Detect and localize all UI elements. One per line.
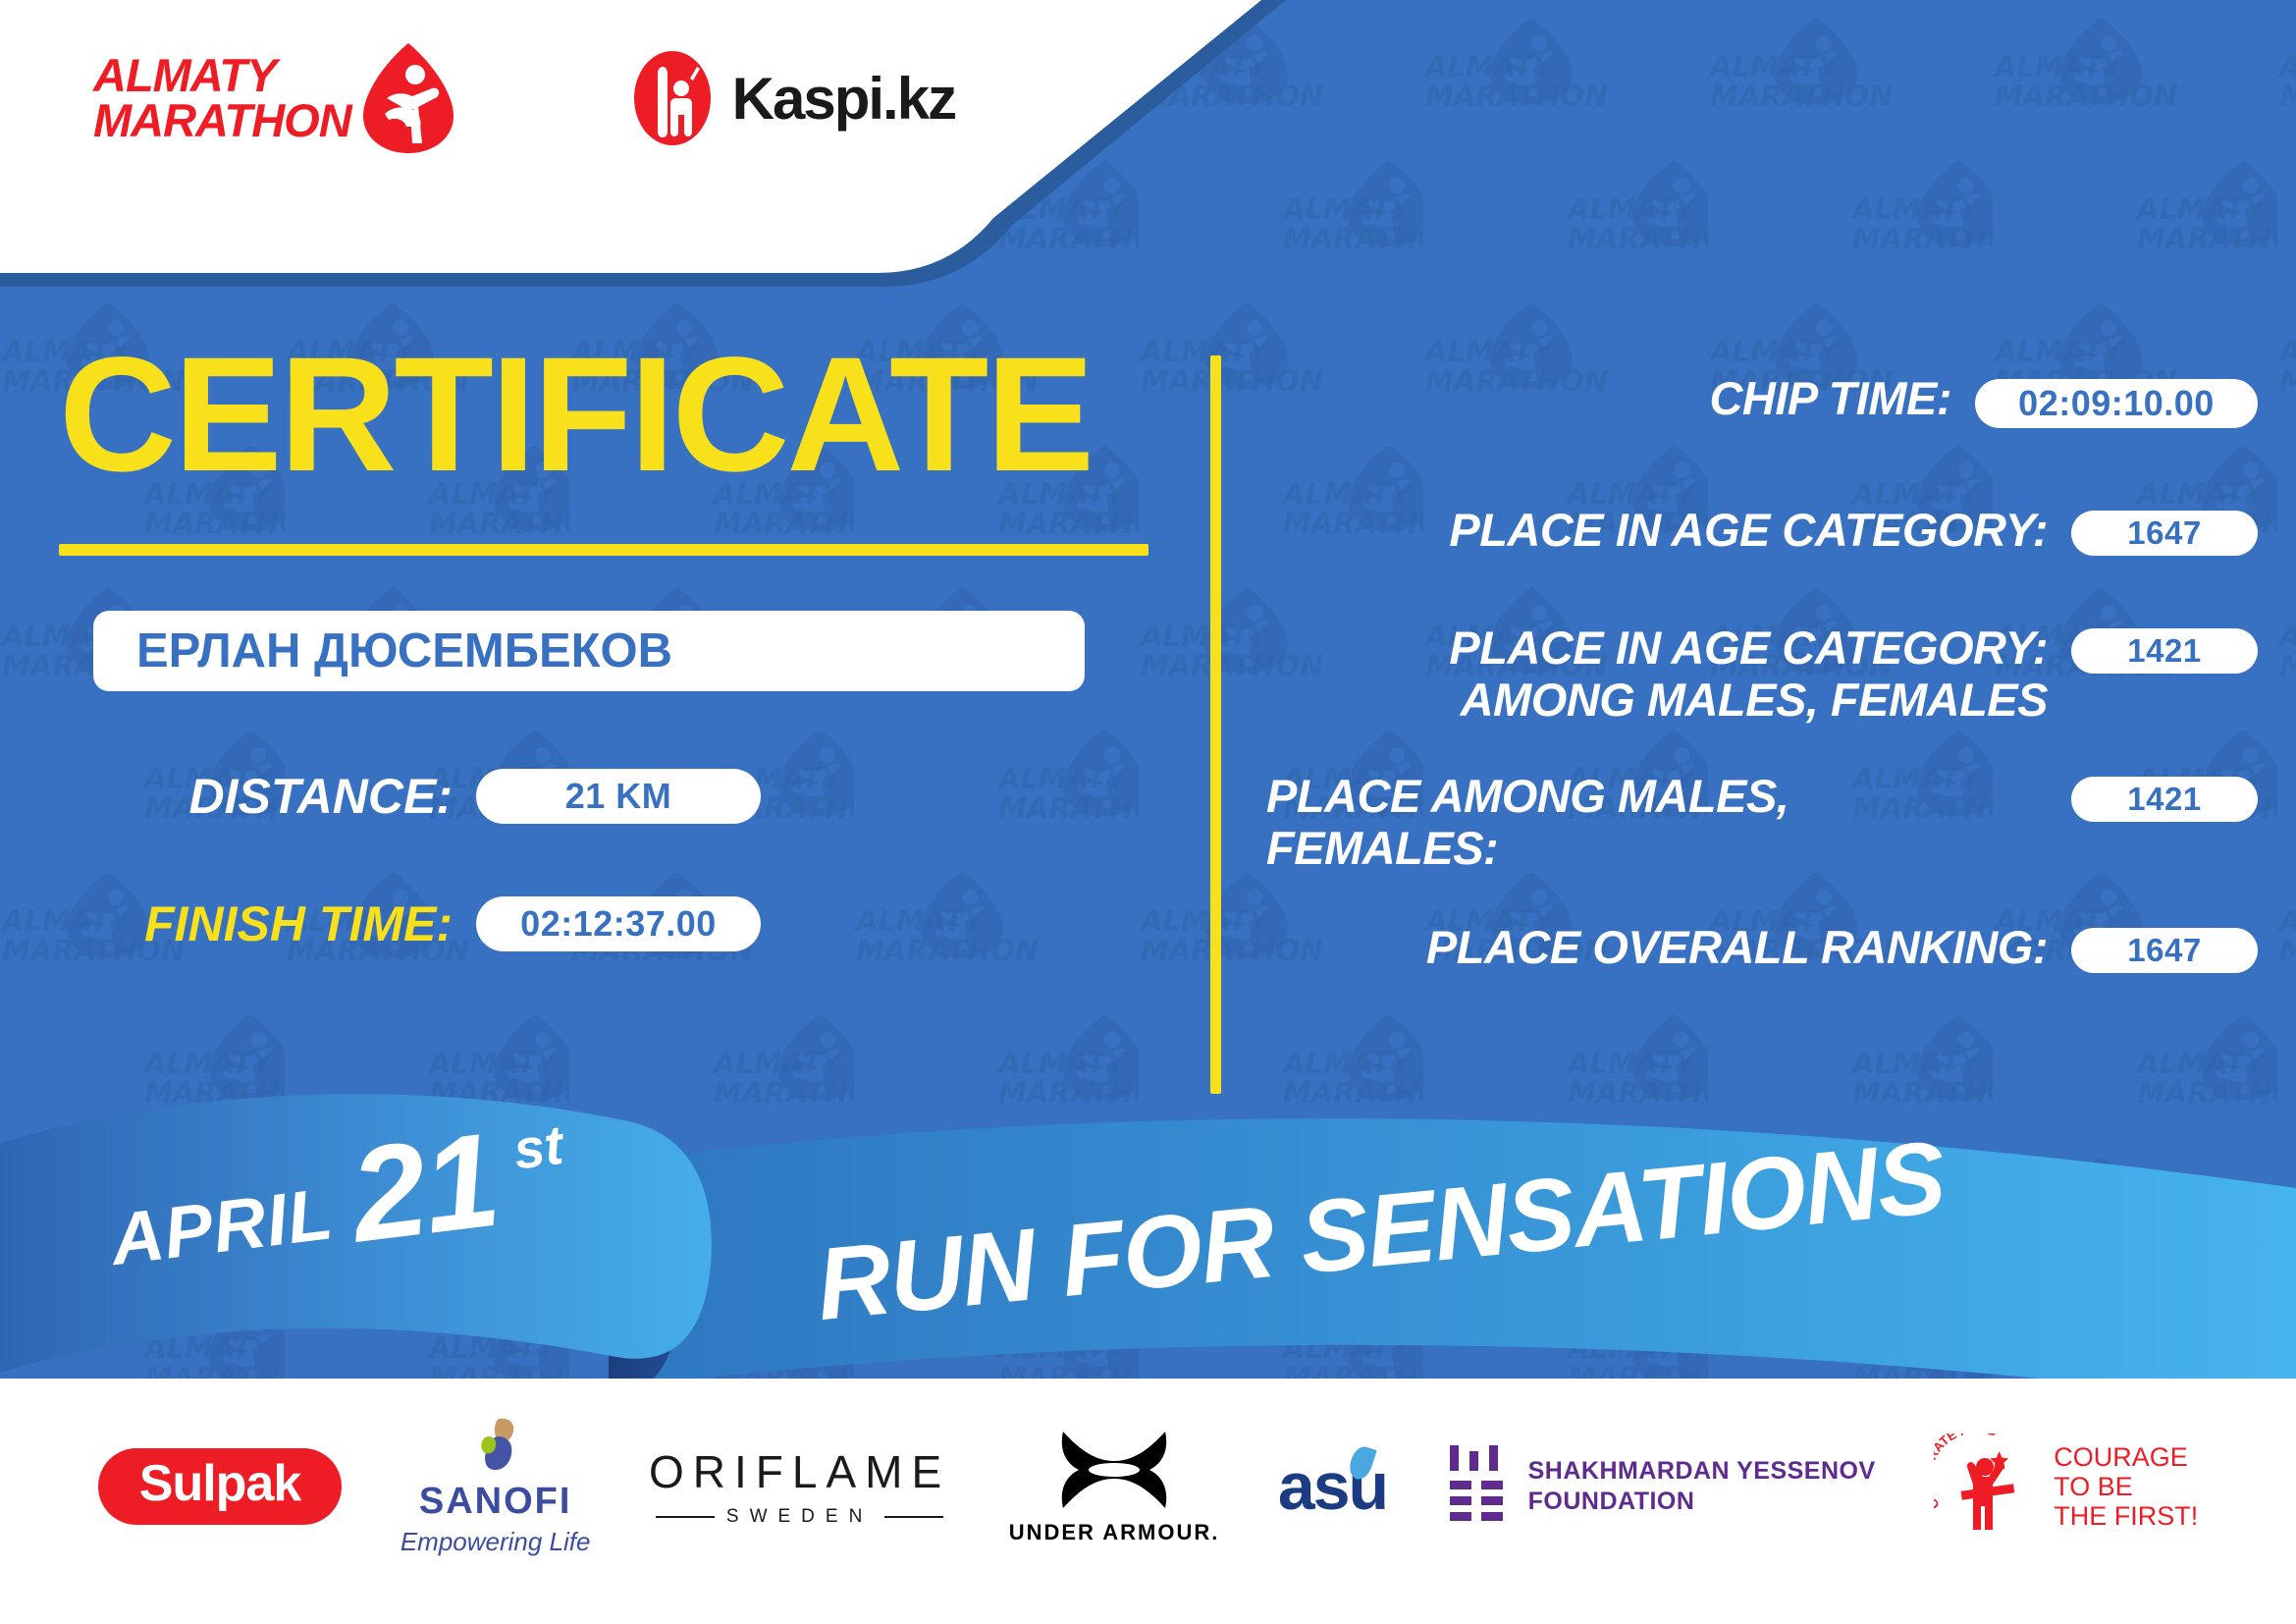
certificate-left-column: CERTIFICATE ЕРЛАН ДЮСЕМБЕКОВ DISTANCE: 2… [0, 334, 1178, 952]
sponsor-yessenov-foundation[interactable]: SHAKHMARDAN YESSENOV FOUNDATION [1446, 1443, 1876, 1531]
chip-time-label: CHIP TIME: [1266, 373, 1975, 425]
under-armour-icon [1009, 1428, 1220, 1512]
courage-line1: COURAGE [2054, 1442, 2198, 1472]
event-day-suffix: st [510, 1112, 566, 1182]
courage-line2: TO BE [2054, 1472, 2198, 1501]
certificate-canvas: ALMATY MARATHON [0, 0, 2296, 1624]
almaty-marathon-logo[interactable]: ALMATY MARATHON [93, 41, 455, 155]
stat-row-place-overall-ranking: PLACE OVERALL RANKING: 1647 [1266, 922, 2258, 983]
yessenov-line2: FOUNDATION [1528, 1487, 1876, 1517]
sponsor-under-armour[interactable]: UNDER ARMOUR. [1009, 1428, 1220, 1545]
kaspi-person-icon [632, 49, 713, 147]
sponsor-oriflame[interactable]: ORIFLAME SWEDEN [649, 1445, 950, 1528]
sponsor-sulpak[interactable]: Sulpak [98, 1448, 343, 1525]
sponsor-asu[interactable]: asu [1278, 1448, 1387, 1525]
sulpak-label: Sulpak [98, 1448, 343, 1525]
place-overall-ranking-value-pill[interactable]: 1647 [2071, 928, 2258, 973]
stat-row-chip-time: CHIP TIME: 02:09:10.00 [1266, 373, 2258, 434]
distance-value: 21 KM [565, 776, 672, 817]
place-among-males-females-line2: FEMALES: [1266, 823, 2048, 875]
kaspi-logo[interactable]: Kaspi.kz [632, 49, 955, 147]
vertical-divider [1210, 355, 1221, 1094]
place-among-males-females-value: 1421 [2127, 781, 2201, 818]
event-month: APRIL [106, 1171, 338, 1281]
participant-name-field[interactable]: ЕРЛАН ДЮСЕМБЕКОВ [93, 611, 1085, 691]
stat-row-place-in-age-category: PLACE IN AGE CATEGORY: 1647 [1266, 505, 2258, 566]
place-among-males-females-line1: PLACE AMONG MALES, [1266, 771, 2048, 823]
place-in-age-category-among-line1: PLACE IN AGE CATEGORY: [1266, 623, 2048, 675]
courage-line3: THE FIRST! [2054, 1501, 2198, 1531]
finish-time-row: FINISH TIME: 02:12:37.00 [93, 895, 1178, 952]
almaty-marathon-line2: MARATHON [93, 98, 351, 143]
certificate-stats-column: CHIP TIME: 02:09:10.00 PLACE IN AGE CATE… [1266, 373, 2258, 1026]
finish-time-value: 02:12:37.00 [520, 903, 717, 945]
participant-name-value: ЕРЛАН ДЮСЕМБЕКОВ [136, 623, 672, 678]
sanofi-mark-icon [465, 1463, 526, 1480]
place-in-age-category-among-label: PLACE IN AGE CATEGORY: AMONG MALES, FEMA… [1266, 623, 2071, 726]
place-in-age-category-label: PLACE IN AGE CATEGORY: [1266, 505, 2071, 557]
event-slogan: RUN FOR SENSATIONS [812, 1119, 1949, 1344]
kaspi-label: Kaspi.kz [732, 65, 955, 133]
event-day: 21 [346, 1125, 503, 1252]
oriflame-rule-right [884, 1516, 943, 1518]
stat-row-place-among-males-females: PLACE AMONG MALES, FEMALES: 1421 [1266, 771, 2258, 874]
place-in-age-category-among-line2: AMONG MALES, FEMALES [1266, 675, 2048, 727]
almaty-marathon-line1: ALMATY [93, 53, 351, 98]
place-overall-ranking-label: PLACE OVERALL RANKING: [1266, 922, 2071, 974]
finish-time-value-pill[interactable]: 02:12:37.00 [476, 896, 761, 951]
chip-time-value-pill[interactable]: 02:09:10.00 [1975, 379, 2258, 428]
under-armour-label: UNDER ARMOUR. [1009, 1520, 1220, 1545]
sponsor-bar: Sulpak SANOFI Empowering Life ORIFLAME [0, 1379, 2296, 1624]
sanofi-tagline: Empowering Life [400, 1527, 591, 1557]
yessenov-mark-icon [1446, 1443, 1507, 1531]
distance-row: DISTANCE: 21 KM [93, 768, 1178, 825]
distance-label: DISTANCE: [93, 768, 476, 825]
finish-time-label: FINISH TIME: [93, 895, 476, 952]
chip-time-value: 02:09:10.00 [2018, 383, 2215, 424]
sponsor-sanofi[interactable]: SANOFI Empowering Life [400, 1417, 591, 1557]
courage-person-icon: CORPORATE FUND [1934, 1434, 2040, 1540]
oriflame-sub: SWEDEN [726, 1506, 873, 1528]
place-overall-ranking-value: 1647 [2127, 932, 2201, 969]
stat-row-place-in-age-category-among: PLACE IN AGE CATEGORY: AMONG MALES, FEMA… [1266, 623, 2258, 726]
header-logos: ALMATY MARATHON [93, 41, 955, 155]
sanofi-label: SANOFI [400, 1481, 591, 1523]
place-among-males-females-value-pill[interactable]: 1421 [2071, 777, 2258, 822]
place-among-males-females-label: PLACE AMONG MALES, FEMALES: [1266, 771, 2071, 874]
page-title: CERTIFICATE [59, 334, 1178, 497]
place-in-age-category-among-value: 1421 [2127, 632, 2201, 670]
sponsor-courage-to-be-the-first[interactable]: CORPORATE FUND COURAGE TO BE THE FIRST! [1934, 1434, 2198, 1540]
place-in-age-category-value-pill[interactable]: 1647 [2071, 511, 2258, 556]
place-in-age-category-value: 1647 [2127, 514, 2201, 552]
yessenov-line1: SHAKHMARDAN YESSENOV [1528, 1456, 1876, 1487]
oriflame-rule-left [656, 1516, 715, 1518]
oriflame-label: ORIFLAME [649, 1445, 950, 1498]
event-date: APRIL 21 st [103, 1116, 572, 1281]
place-in-age-category-among-value-pill[interactable]: 1421 [2071, 628, 2258, 674]
distance-value-pill[interactable]: 21 KM [476, 769, 761, 824]
runner-in-droplet-icon [361, 41, 455, 155]
title-underline [59, 544, 1148, 556]
